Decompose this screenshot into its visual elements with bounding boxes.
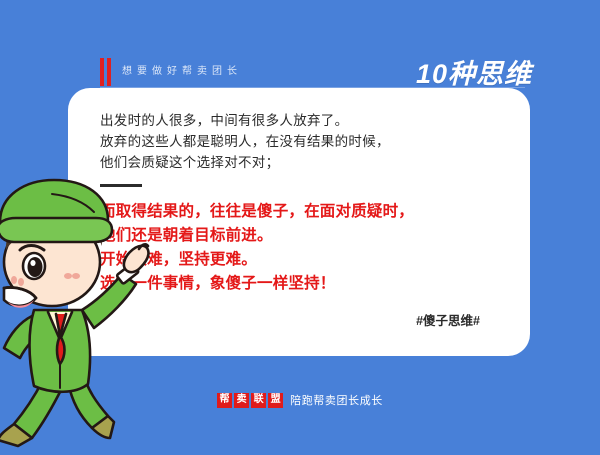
brand-logo-char: 盟	[268, 393, 283, 408]
hashtag-label: #傻子思维#	[100, 310, 512, 329]
poster-root: { "page": { "background_color": "#4880d8…	[0, 0, 600, 450]
page-header: 想要做好帮卖团长 10种思维	[0, 50, 600, 92]
text-divider	[100, 184, 142, 187]
intro-line: 他们会质疑这个选择对不对；	[100, 152, 512, 173]
brand-logo-char: 联	[251, 393, 266, 408]
brand-logo-char: 卖	[234, 393, 249, 408]
content-card: 出发时的人很多，中间有很多人放弃了。 放弃的这些人都是聪明人，在没有结果的时候，…	[68, 88, 530, 356]
brand-logo: 帮 卖 联 盟	[217, 393, 283, 408]
page-footer: 帮 卖 联 盟 陪跑帮卖团长成长	[0, 392, 600, 408]
highlight-line: 选择一件事情，象傻子一样坚持！	[100, 272, 512, 296]
footer-tagline: 陪跑帮卖团长成长	[290, 392, 383, 408]
intro-line: 出发时的人很多，中间有很多人放弃了。	[100, 110, 512, 131]
header-accent-bars-icon	[100, 58, 112, 86]
intro-line: 放弃的这些人都是聪明人，在没有结果的时候，	[100, 131, 512, 152]
intro-paragraph: 出发时的人很多，中间有很多人放弃了。 放弃的这些人都是聪明人，在没有结果的时候，…	[100, 110, 512, 173]
header-subtitle: 想要做好帮卖团长	[122, 62, 242, 77]
highlight-paragraph: 而取得结果的，往往是傻子，在面对质疑时， 他们还是朝着目标前进。 开始很难，坚持…	[100, 200, 512, 296]
highlight-line: 而取得结果的，往往是傻子，在面对质疑时，	[100, 200, 512, 224]
card-body: 出发时的人很多，中间有很多人放弃了。 放弃的这些人都是聪明人，在没有结果的时候，…	[100, 110, 512, 329]
highlight-line: 开始很难，坚持更难。	[100, 248, 512, 272]
brand-logo-char: 帮	[217, 393, 232, 408]
page-title: 10种思维	[416, 52, 532, 91]
highlight-line: 他们还是朝着目标前进。	[100, 224, 512, 248]
